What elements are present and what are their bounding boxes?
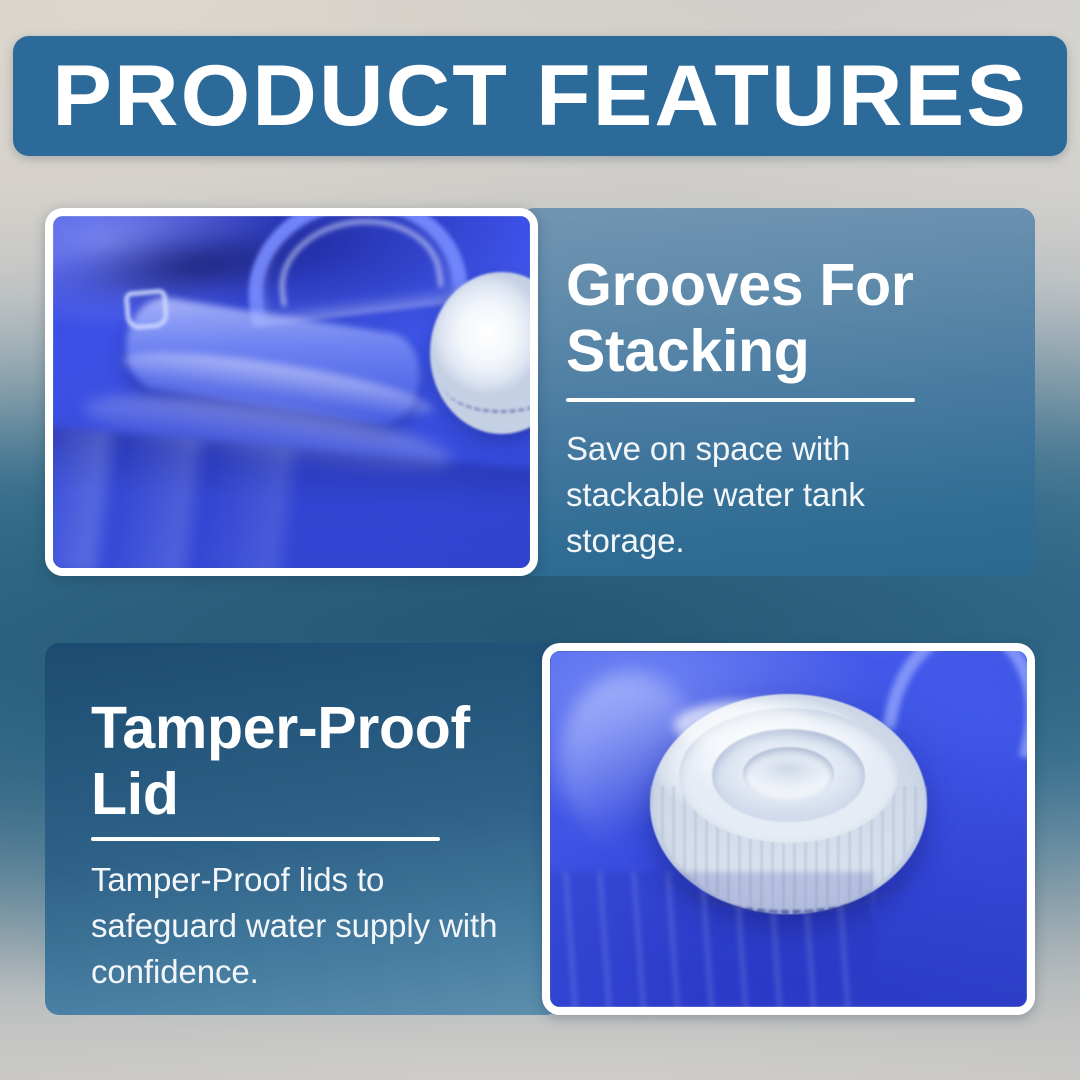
feature-divider-1 [566,398,915,402]
header-banner: PRODUCT FEATURES [13,36,1067,156]
feature-row-grooves-for-stacking: Grooves For Stacking Save on space with … [45,208,1035,576]
feature-text-panel-1: Grooves For Stacking Save on space with … [520,208,1035,576]
photo-canvas-2 [550,651,1027,1007]
photo-canvas-1 [53,216,530,568]
feature-divider-2 [91,837,440,841]
feature-heading-2: Tamper-Proof Lid [91,695,514,827]
feature-body-2: Tamper-Proof lids to safeguard water sup… [91,857,514,995]
feature-body-1: Save on space with stackable water tank … [566,426,989,564]
feature-heading-1: Grooves For Stacking [566,252,989,384]
tamper-lock-tab [123,288,169,330]
infographic-content: PRODUCT FEATURES Grooves For Stacking Sa… [0,0,1080,1080]
cap-gloss-highlight [674,701,817,751]
cap-center-opening [743,747,834,800]
feature-row-tamper-proof-lid: Tamper-Proof Lid Tamper-Proof lids to sa… [45,643,1035,1015]
feature-photo-tamper-proof-lid [542,643,1035,1015]
page-title: PRODUCT FEATURES [52,53,1028,139]
tank-wall-ribs [550,872,874,1007]
feature-photo-grooves [45,208,538,576]
feature-text-panel-2: Tamper-Proof Lid Tamper-Proof lids to sa… [45,643,560,1015]
